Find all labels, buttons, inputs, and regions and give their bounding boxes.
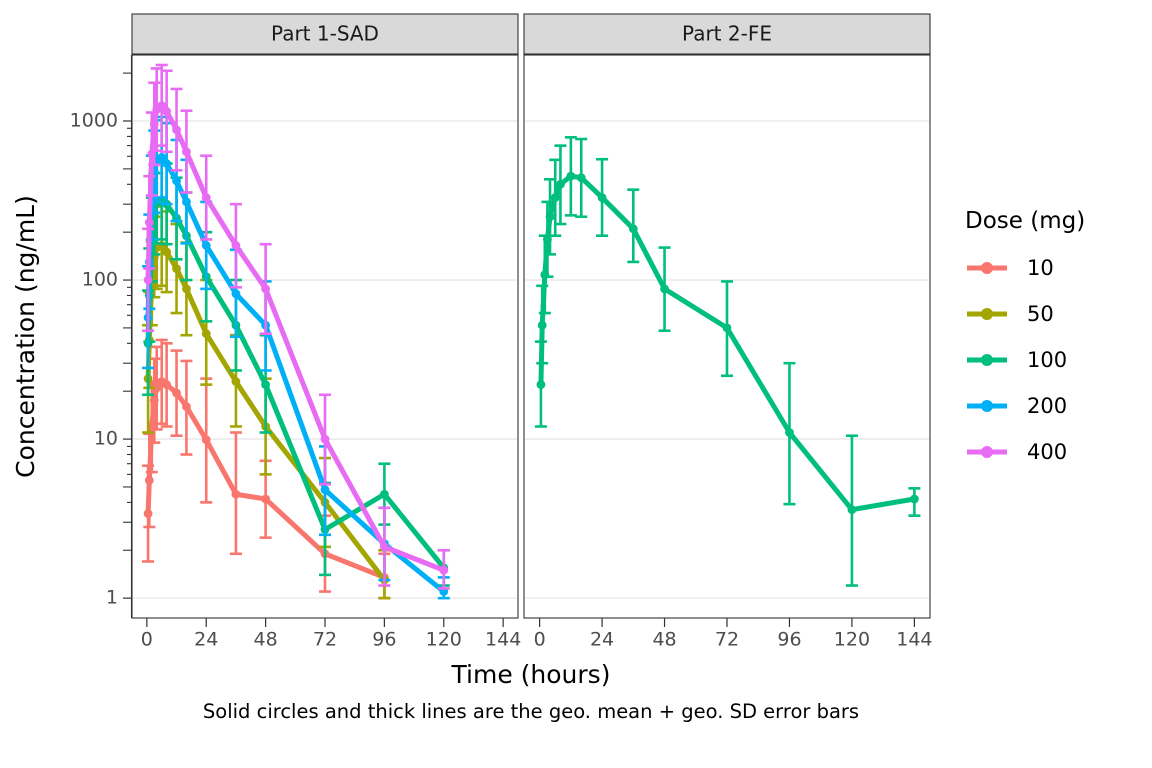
data-point — [232, 490, 241, 499]
data-point — [162, 107, 171, 116]
x-tick-label: 24 — [194, 629, 218, 651]
data-point — [380, 542, 389, 551]
chart-root: { "chart_data": { "type": "line", "title… — [0, 0, 1152, 768]
legend-item-label: 400 — [1027, 440, 1067, 464]
data-point — [232, 241, 241, 250]
data-point — [202, 193, 211, 202]
y-minor-ticks — [123, 73, 132, 550]
y-tick-label: 1 — [106, 587, 118, 609]
x-tick-label: 72 — [715, 629, 739, 651]
data-point — [172, 125, 181, 134]
data-point — [551, 193, 560, 202]
y-tick-label: 1000 — [70, 109, 118, 131]
data-point — [172, 177, 181, 186]
data-point — [172, 264, 181, 273]
legend-item-label: 200 — [1027, 394, 1067, 418]
data-point — [261, 284, 270, 293]
data-point — [202, 241, 211, 250]
panel-strip-label: Part 1-SAD — [271, 22, 379, 46]
data-point — [380, 490, 389, 499]
data-point — [261, 380, 270, 389]
panel-strip-label: Part 2-FE — [682, 22, 772, 46]
legend-key-point — [981, 446, 993, 458]
x-axis: 024487296120144024487296120144 — [141, 618, 933, 651]
x-tick-label: 144 — [485, 629, 521, 651]
x-tick-label: 120 — [426, 629, 462, 651]
data-point — [321, 485, 330, 494]
data-point — [147, 150, 156, 159]
legend-item-label: 100 — [1027, 348, 1067, 372]
data-point — [145, 218, 154, 227]
data-point — [162, 248, 171, 257]
data-point — [150, 396, 159, 405]
data-point — [540, 270, 549, 279]
data-point — [439, 566, 448, 575]
legend-item-10[interactable]: 10 — [965, 251, 1115, 285]
legend-item-50[interactable]: 50 — [965, 297, 1115, 331]
data-point — [538, 321, 547, 330]
pk-concentration-time-plot: Part 1-SADPart 2-FE110100100002448729612… — [0, 0, 1152, 768]
x-tick-label: 0 — [141, 629, 153, 651]
y-tick-label: 10 — [94, 428, 118, 450]
legend-key-point — [981, 308, 993, 320]
data-point — [321, 435, 330, 444]
data-point — [232, 377, 241, 386]
data-point — [660, 284, 669, 293]
data-point — [543, 235, 552, 244]
x-tick-label: 0 — [534, 629, 546, 651]
data-point — [202, 435, 211, 444]
x-axis-panel-1: 024487296120144 — [141, 618, 521, 651]
data-point — [182, 284, 191, 293]
data-point — [162, 380, 171, 389]
data-point — [182, 402, 191, 411]
x-tick-label: 48 — [254, 629, 278, 651]
legend-item-200[interactable]: 200 — [965, 389, 1115, 423]
x-tick-label: 72 — [313, 629, 337, 651]
data-point — [150, 119, 159, 128]
data-point — [577, 173, 586, 182]
data-point — [182, 197, 191, 206]
data-point — [629, 224, 638, 233]
x-axis-title: Time (hours) — [451, 660, 611, 689]
x-tick-label: 144 — [896, 629, 932, 651]
data-point — [848, 505, 857, 514]
legend-key-point — [981, 262, 993, 274]
plot-caption: Solid circles and thick lines are the ge… — [203, 700, 859, 723]
legend-item-label: 10 — [1027, 256, 1054, 280]
data-point — [144, 276, 153, 285]
data-point — [910, 495, 919, 504]
data-point — [546, 212, 555, 221]
data-point — [598, 193, 607, 202]
x-tick-label: 24 — [590, 629, 614, 651]
legend-item-label: 50 — [1027, 302, 1054, 326]
data-point — [566, 172, 575, 181]
x-axis-panel-2: 024487296120144 — [534, 618, 933, 651]
legend-title: Dose (mg) — [965, 208, 1085, 234]
data-point — [537, 380, 546, 389]
y-tick-label: 100 — [82, 269, 118, 291]
data-point — [202, 329, 211, 338]
legend-key-point — [981, 354, 993, 366]
panels-area: Part 1-SADPart 2-FE — [132, 14, 930, 618]
data-point — [232, 289, 241, 298]
x-tick-label: 48 — [652, 629, 676, 651]
data-point — [723, 324, 732, 333]
data-point — [144, 509, 153, 518]
legend-item-400[interactable]: 400 — [965, 435, 1115, 469]
data-point — [556, 180, 565, 189]
data-point — [182, 147, 191, 156]
data-point — [145, 476, 154, 485]
data-point — [785, 428, 794, 437]
x-tick-label: 120 — [834, 629, 870, 651]
data-point — [172, 389, 181, 398]
legend: Dose (mg)1050100200400 — [965, 208, 1115, 469]
legend-item-100[interactable]: 100 — [965, 343, 1115, 377]
data-point — [162, 159, 171, 168]
data-point — [261, 495, 270, 504]
legend-key-point — [981, 400, 993, 412]
y-axis-title: Concentration (ng/mL) — [11, 195, 40, 478]
x-tick-label: 96 — [372, 629, 396, 651]
x-tick-label: 96 — [777, 629, 801, 651]
y-axis: 1101001000 — [70, 55, 132, 618]
